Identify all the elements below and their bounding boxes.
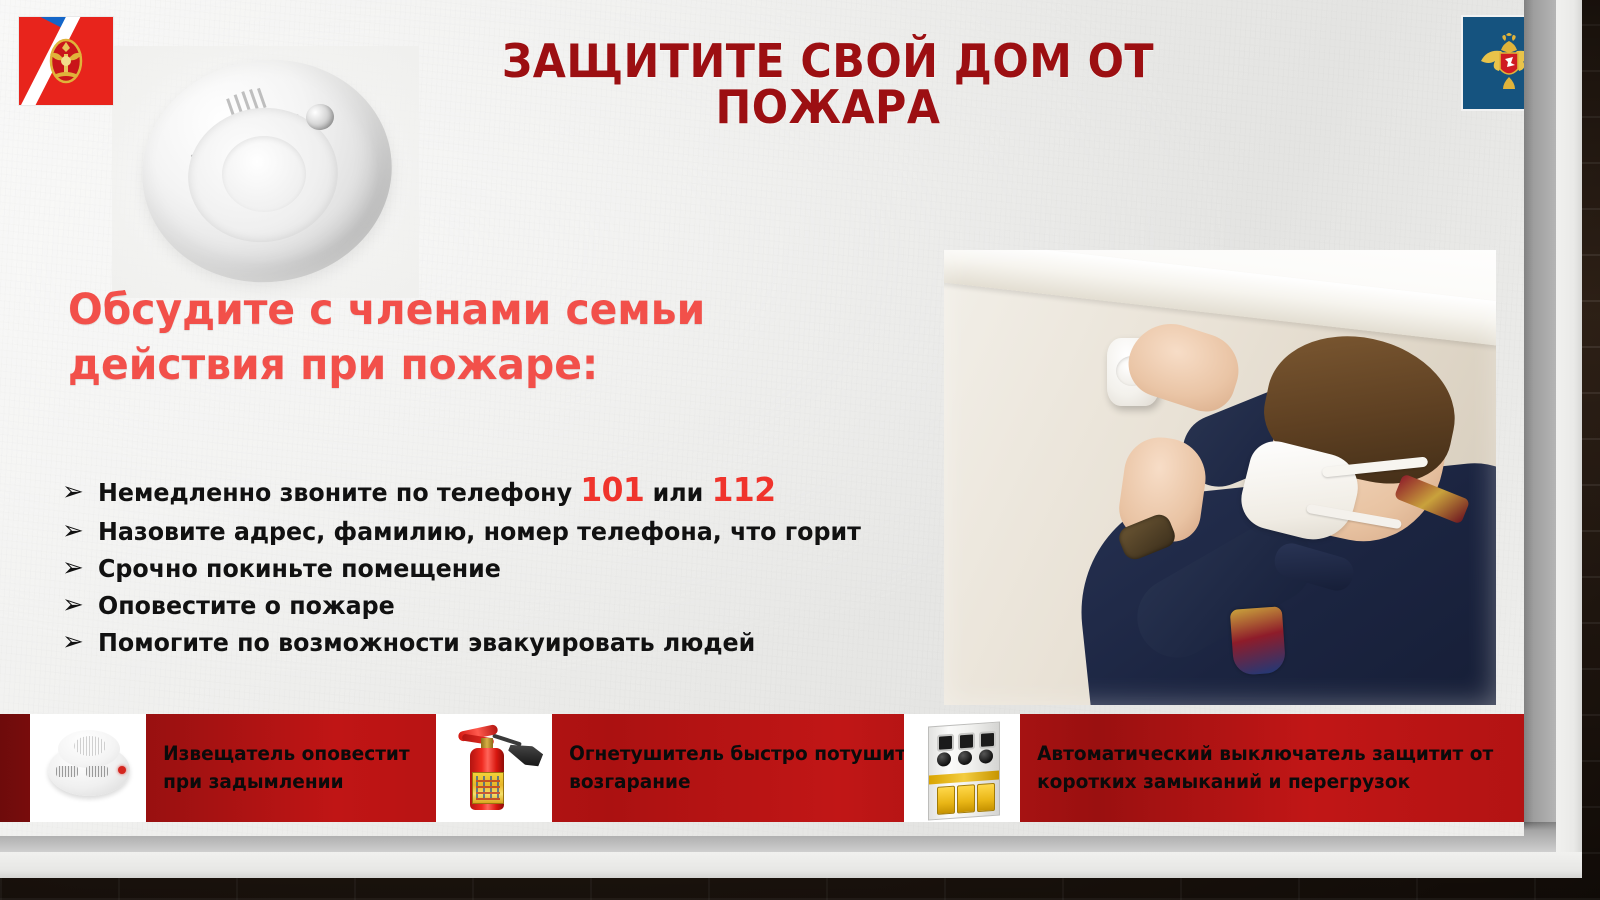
breaker-screw-2 (958, 750, 972, 765)
breaker-terminal-1 (937, 734, 954, 752)
bullet-0-mid: или (644, 478, 711, 507)
poster-stage: ЗАЩИТИТЕ СВОЙ ДОМ ОТ ПОЖАРА Обсудите с ч… (0, 0, 1600, 900)
gold-emblem-icon (42, 30, 90, 92)
breaker-screw-1 (937, 752, 951, 767)
list-item-text: Назовите адрес, фамилию, номер телефона,… (98, 518, 861, 546)
emergency-number-101: 101 (580, 470, 644, 509)
photo-sleeve-patch (1230, 606, 1286, 675)
breaker-body (928, 721, 1000, 820)
poster-right-shadow (1524, 0, 1556, 852)
breaker-lever-1 (937, 786, 955, 815)
footer-extinguisher-line2: возгарание (569, 768, 906, 796)
chevron-bullet-icon: ➢ (62, 555, 84, 581)
action-list: ➢ Немедленно звоните по телефону 101 или… (62, 472, 962, 666)
list-item: ➢ Назовите адрес, фамилию, номер телефон… (62, 518, 962, 546)
breaker-lever-2 (957, 784, 975, 813)
footer-extinguisher-line1: Огнетушитель быстро потушит (569, 740, 906, 768)
footer-band: Извещатель оповестит при задымлении (0, 714, 1524, 822)
footer-item-breaker: Автоматический выключатель защитит от ко… (904, 714, 1518, 822)
footer-text-breaker: Автоматический выключатель защитит от ко… (1020, 740, 1493, 797)
poster-subtitle: Обсудите с членами семьи действия при по… (68, 283, 904, 393)
bottom-white-band (0, 852, 1582, 878)
circuit-breaker-icon (904, 714, 1020, 822)
extinguisher-label (472, 772, 504, 804)
poster-title: ЗАЩИТИТЕ СВОЙ ДОМ ОТ ПОЖАРА (447, 38, 1210, 130)
list-item: ➢ Срочно покиньте помещение (62, 555, 962, 583)
list-item-text: Срочно покиньте помещение (98, 555, 501, 583)
detector-vent-left (56, 766, 78, 777)
list-item: ➢ Немедленно звоните по телефону 101 или… (62, 472, 962, 509)
footer-breaker-line1: Автоматический выключатель защитит от (1037, 740, 1493, 768)
list-item: ➢ Оповестите о пожаре (62, 592, 962, 620)
detector-vent-right (86, 766, 108, 777)
footer-detector-line1: Извещатель оповестит (163, 740, 410, 768)
list-item: ➢ Помогите по возможности эвакуировать л… (62, 629, 962, 657)
fire-service-flag-logo (18, 16, 114, 106)
detector-image-fade (112, 46, 419, 298)
footer-text-extinguisher: Огнетушитель быстро потушит возгарание (552, 740, 906, 797)
smoke-detector-hero-image (118, 52, 413, 292)
breaker-screw-3 (979, 749, 993, 764)
footer-breaker-line2: коротких замыканий и перегрузок (1037, 768, 1493, 796)
breaker-terminal-3 (979, 731, 996, 749)
detector-grille (74, 736, 106, 756)
mchs-emblem-logo (1461, 15, 1524, 111)
fire-extinguisher-icon (436, 714, 552, 822)
chevron-bullet-icon: ➢ (62, 629, 84, 655)
footer-item-detector: Извещатель оповестит при задымлении (30, 714, 424, 822)
bullet-0-pre: Немедленно звоните по телефону (98, 478, 580, 507)
list-item-text: Оповестите о пожаре (98, 592, 395, 620)
footer-detector-line2: при задымлении (163, 768, 410, 796)
poster-frame: ЗАЩИТИТЕ СВОЙ ДОМ ОТ ПОЖАРА Обсудите с ч… (0, 0, 1556, 852)
detector-led (118, 766, 126, 774)
breaker-terminal-2 (958, 732, 975, 750)
chevron-bullet-icon: ➢ (62, 479, 84, 505)
chevron-bullet-icon: ➢ (62, 518, 84, 544)
chevron-bullet-icon: ➢ (62, 592, 84, 618)
footer-item-extinguisher: Огнетушитель быстро потушит возгарание (436, 714, 925, 822)
right-white-band (1556, 0, 1582, 878)
emergency-number-112: 112 (712, 470, 776, 509)
poster-canvas: ЗАЩИТИТЕ СВОЙ ДОМ ОТ ПОЖАРА Обсудите с ч… (0, 0, 1524, 836)
smoke-detector-icon (30, 714, 146, 822)
double-headed-eagle-icon (1473, 27, 1524, 99)
list-item-text: Помогите по возможности эвакуировать люд… (98, 629, 755, 657)
breaker-lever-3 (977, 783, 995, 812)
list-item-text: Немедленно звоните по телефону 101 или 1… (98, 472, 776, 509)
extinguisher-hose (492, 733, 522, 746)
footer-text-detector: Извещатель оповестит при задымлении (146, 740, 410, 797)
installer-photo (944, 250, 1496, 705)
